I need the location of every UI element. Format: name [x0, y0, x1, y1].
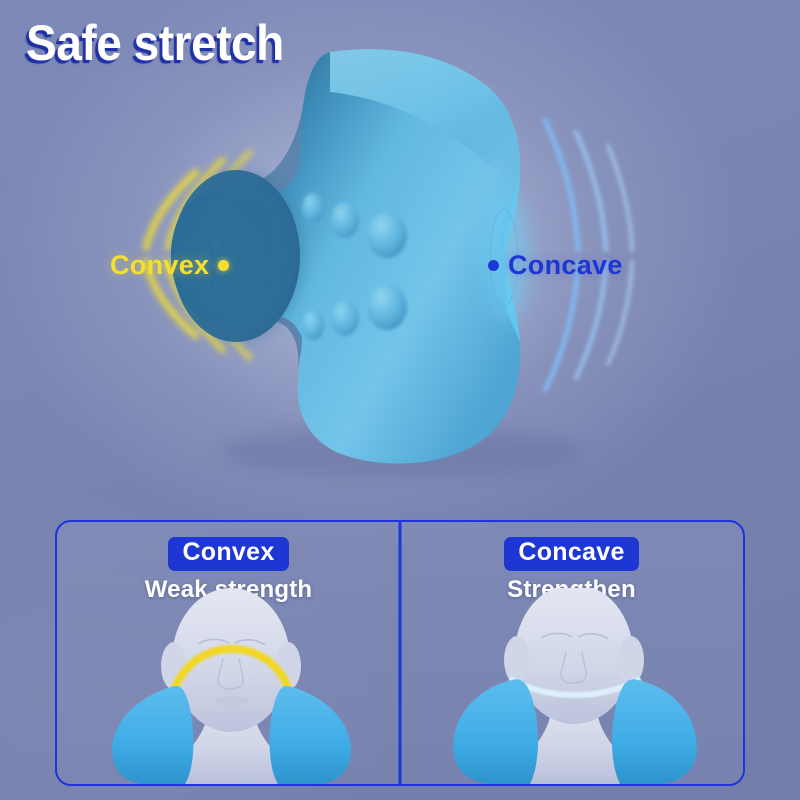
callout-convex-dot	[218, 260, 229, 271]
comparison-frame: Convex Weak strength	[55, 520, 745, 786]
figure-convex-svg	[57, 588, 402, 784]
figure-concave	[400, 588, 743, 784]
pillow-wing-right	[612, 679, 697, 784]
callout-convex-label: Convex	[110, 250, 209, 281]
pillow-wing-left	[112, 686, 193, 784]
callout-concave[interactable]: Concave	[488, 250, 623, 281]
hero-illustration: Convex Concave	[0, 0, 800, 500]
badge-concave: Concave	[504, 537, 638, 571]
pillow-wing-left	[453, 679, 538, 784]
poster-canvas: Safe stretch	[0, 0, 800, 800]
callout-concave-label: Concave	[508, 250, 623, 281]
comparison-panel-concave[interactable]: Concave Strengthen	[400, 522, 743, 784]
figure-convex	[57, 588, 400, 784]
figure-concave-svg	[400, 588, 745, 784]
comparison-panel-convex[interactable]: Convex Weak strength	[57, 522, 400, 784]
callout-concave-dot	[488, 260, 499, 271]
callout-convex[interactable]: Convex	[110, 250, 229, 281]
pillow-wing-right	[270, 686, 351, 784]
badge-convex: Convex	[168, 537, 288, 571]
